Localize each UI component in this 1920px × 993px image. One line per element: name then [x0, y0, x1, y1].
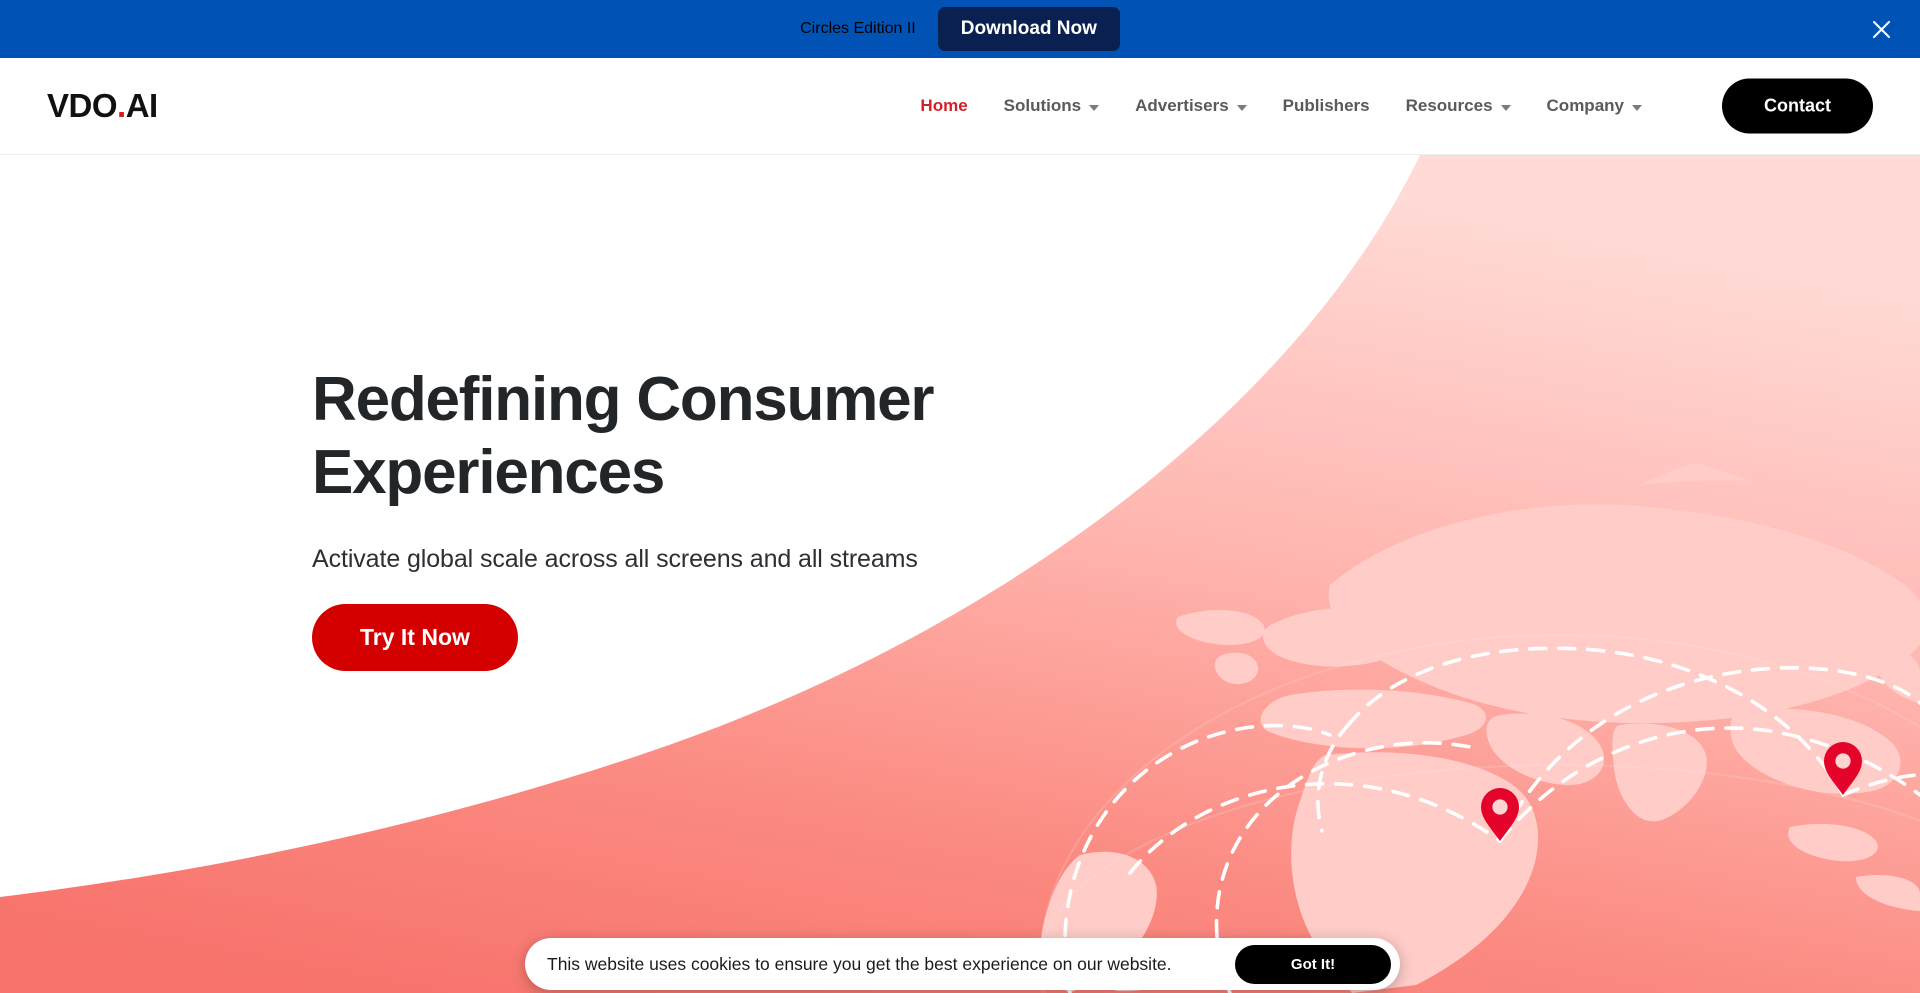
nav-item-resources[interactable]: Resources [1406, 96, 1511, 116]
hero-subtitle: Activate global scale across all screens… [312, 545, 1072, 574]
close-icon[interactable] [1864, 12, 1898, 46]
nav-item-advertisers[interactable]: Advertisers [1135, 96, 1247, 116]
cookie-consent-banner: This website uses cookies to ensure you … [525, 938, 1400, 990]
nav-item-label: Publishers [1283, 96, 1370, 116]
logo-text-suffix: AI [126, 87, 158, 124]
site-header: VDO.AI Home Solutions Advertisers Publis… [0, 58, 1920, 155]
nav-item-label: Company [1547, 96, 1624, 116]
nav-item-label: Resources [1406, 96, 1493, 116]
hero-copy-block: Redefining Consumer Experiences Activate… [312, 363, 1072, 671]
download-now-button[interactable]: Download Now [938, 7, 1120, 51]
contact-button[interactable]: Contact [1722, 79, 1873, 134]
cookie-accept-button[interactable]: Got It! [1235, 945, 1391, 984]
nav-item-company[interactable]: Company [1547, 96, 1642, 116]
chevron-down-icon [1237, 105, 1247, 111]
hero-section: Redefining Consumer Experiences Activate… [0, 155, 1920, 993]
try-it-now-button[interactable]: Try It Now [312, 604, 518, 671]
nav-item-solutions[interactable]: Solutions [1004, 96, 1099, 116]
promo-banner: Circles Edition II Download Now [0, 0, 1920, 58]
nav-item-home[interactable]: Home [920, 96, 967, 116]
main-navigation: Home Solutions Advertisers Publishers Re… [920, 96, 1642, 116]
chevron-down-icon [1089, 105, 1099, 111]
chevron-down-icon [1501, 105, 1511, 111]
promo-banner-text: Circles Edition II [800, 20, 916, 38]
nav-item-label: Solutions [1004, 96, 1081, 116]
nav-item-label: Advertisers [1135, 96, 1229, 116]
page-title: Redefining Consumer Experiences [312, 363, 1072, 509]
chevron-down-icon [1632, 105, 1642, 111]
cookie-consent-message: This website uses cookies to ensure you … [547, 954, 1235, 975]
logo-dot: . [117, 87, 126, 124]
logo-text-main: VDO [47, 87, 117, 124]
nav-item-publishers[interactable]: Publishers [1283, 96, 1370, 116]
nav-item-label: Home [920, 96, 967, 116]
brand-logo[interactable]: VDO.AI [47, 87, 158, 125]
